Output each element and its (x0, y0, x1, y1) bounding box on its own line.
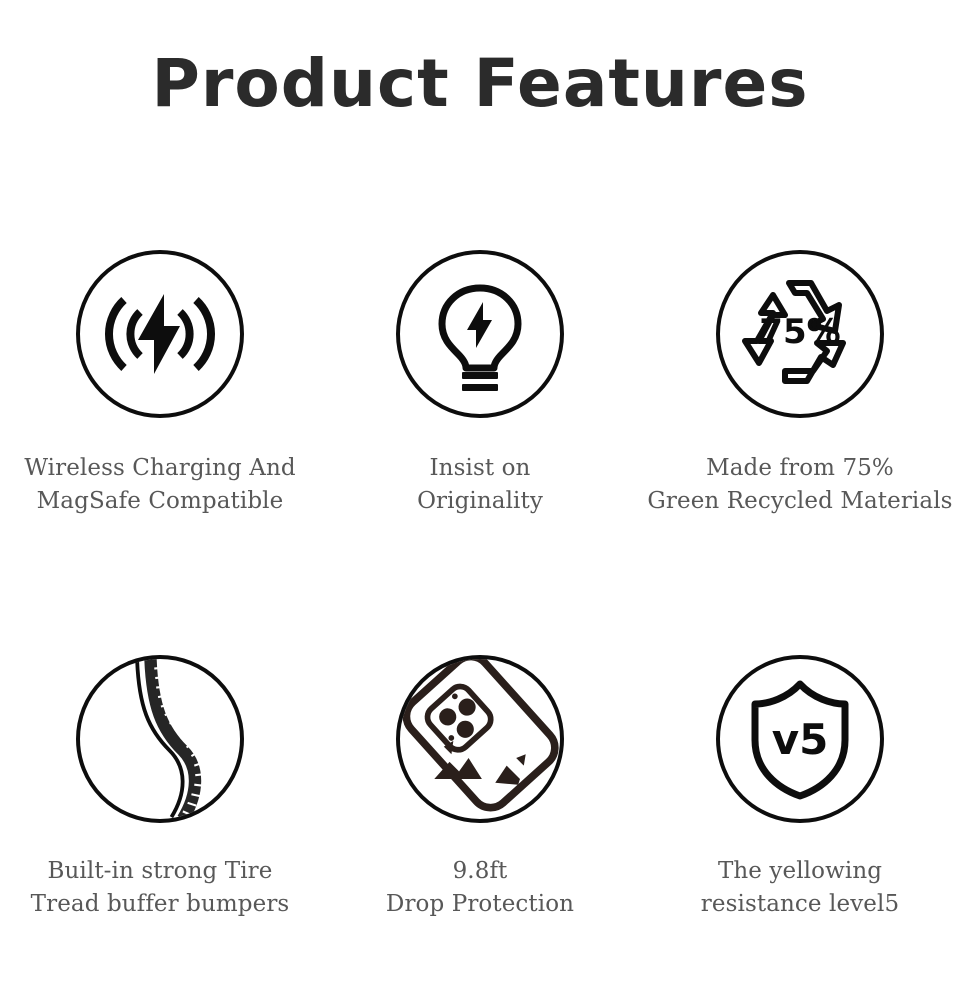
icon-circle: 75% (716, 250, 884, 418)
shield-v5-icon: v5 (737, 676, 863, 802)
product-features-page: Product Features (0, 0, 960, 984)
feature-item-recycled-materials: 75% Made from 75% Green Recycled Materia… (640, 250, 960, 517)
recycle-75-percent-icon: 75% (737, 271, 863, 397)
icon-circle (76, 250, 244, 418)
icon-circle (76, 655, 244, 823)
caption-line-2: resistance level5 (701, 888, 899, 921)
page-title: Product Features (0, 48, 960, 121)
lightbulb-idea-icon (420, 274, 540, 394)
feature-item-wireless-charging: Wireless Charging And MagSafe Compatible (0, 250, 320, 517)
feature-caption: Built-in strong Tire Tread buffer bumper… (31, 855, 290, 920)
wireless-charging-icon (100, 274, 220, 394)
feature-item-tire-tread: Built-in strong Tire Tread buffer bumper… (0, 655, 320, 920)
drop-protection-phone-icon (400, 655, 560, 823)
feature-caption: The yellowing resistance level5 (701, 855, 899, 920)
caption-line-1: Wireless Charging And (24, 452, 295, 485)
tire-tread-icon (80, 655, 240, 823)
feature-item-drop-protection: 9.8ft Drop Protection (320, 655, 640, 920)
recycle-percent-label: 75% (759, 312, 840, 352)
feature-caption: Wireless Charging And MagSafe Compatible (24, 452, 295, 517)
shield-level-label: v5 (772, 715, 829, 764)
feature-item-originality: Insist on Originality (320, 250, 640, 517)
feature-caption: 9.8ft Drop Protection (386, 855, 574, 920)
icon-circle (396, 655, 564, 823)
caption-line-1: 9.8ft (386, 855, 574, 888)
feature-caption: Insist on Originality (417, 452, 543, 517)
caption-line-2: Drop Protection (386, 888, 574, 921)
caption-line-1: Insist on (417, 452, 543, 485)
caption-line-2: Tread buffer bumpers (31, 888, 290, 921)
features-grid: Wireless Charging And MagSafe Compatible (0, 250, 960, 921)
feature-item-yellowing-resistance: v5 The yellowing resistance level5 (640, 655, 960, 920)
caption-line-2: Originality (417, 485, 543, 518)
caption-line-1: Made from 75% (647, 452, 952, 485)
icon-circle (396, 250, 564, 418)
caption-line-2: Green Recycled Materials (647, 485, 952, 518)
feature-caption: Made from 75% Green Recycled Materials (647, 452, 952, 517)
icon-circle: v5 (716, 655, 884, 823)
features-row-1: Wireless Charging And MagSafe Compatible (0, 250, 960, 517)
features-row-2: Built-in strong Tire Tread buffer bumper… (0, 655, 960, 920)
caption-line-1: Built-in strong Tire (31, 855, 290, 888)
caption-line-2: MagSafe Compatible (24, 485, 295, 518)
caption-line-1: The yellowing (701, 855, 899, 888)
